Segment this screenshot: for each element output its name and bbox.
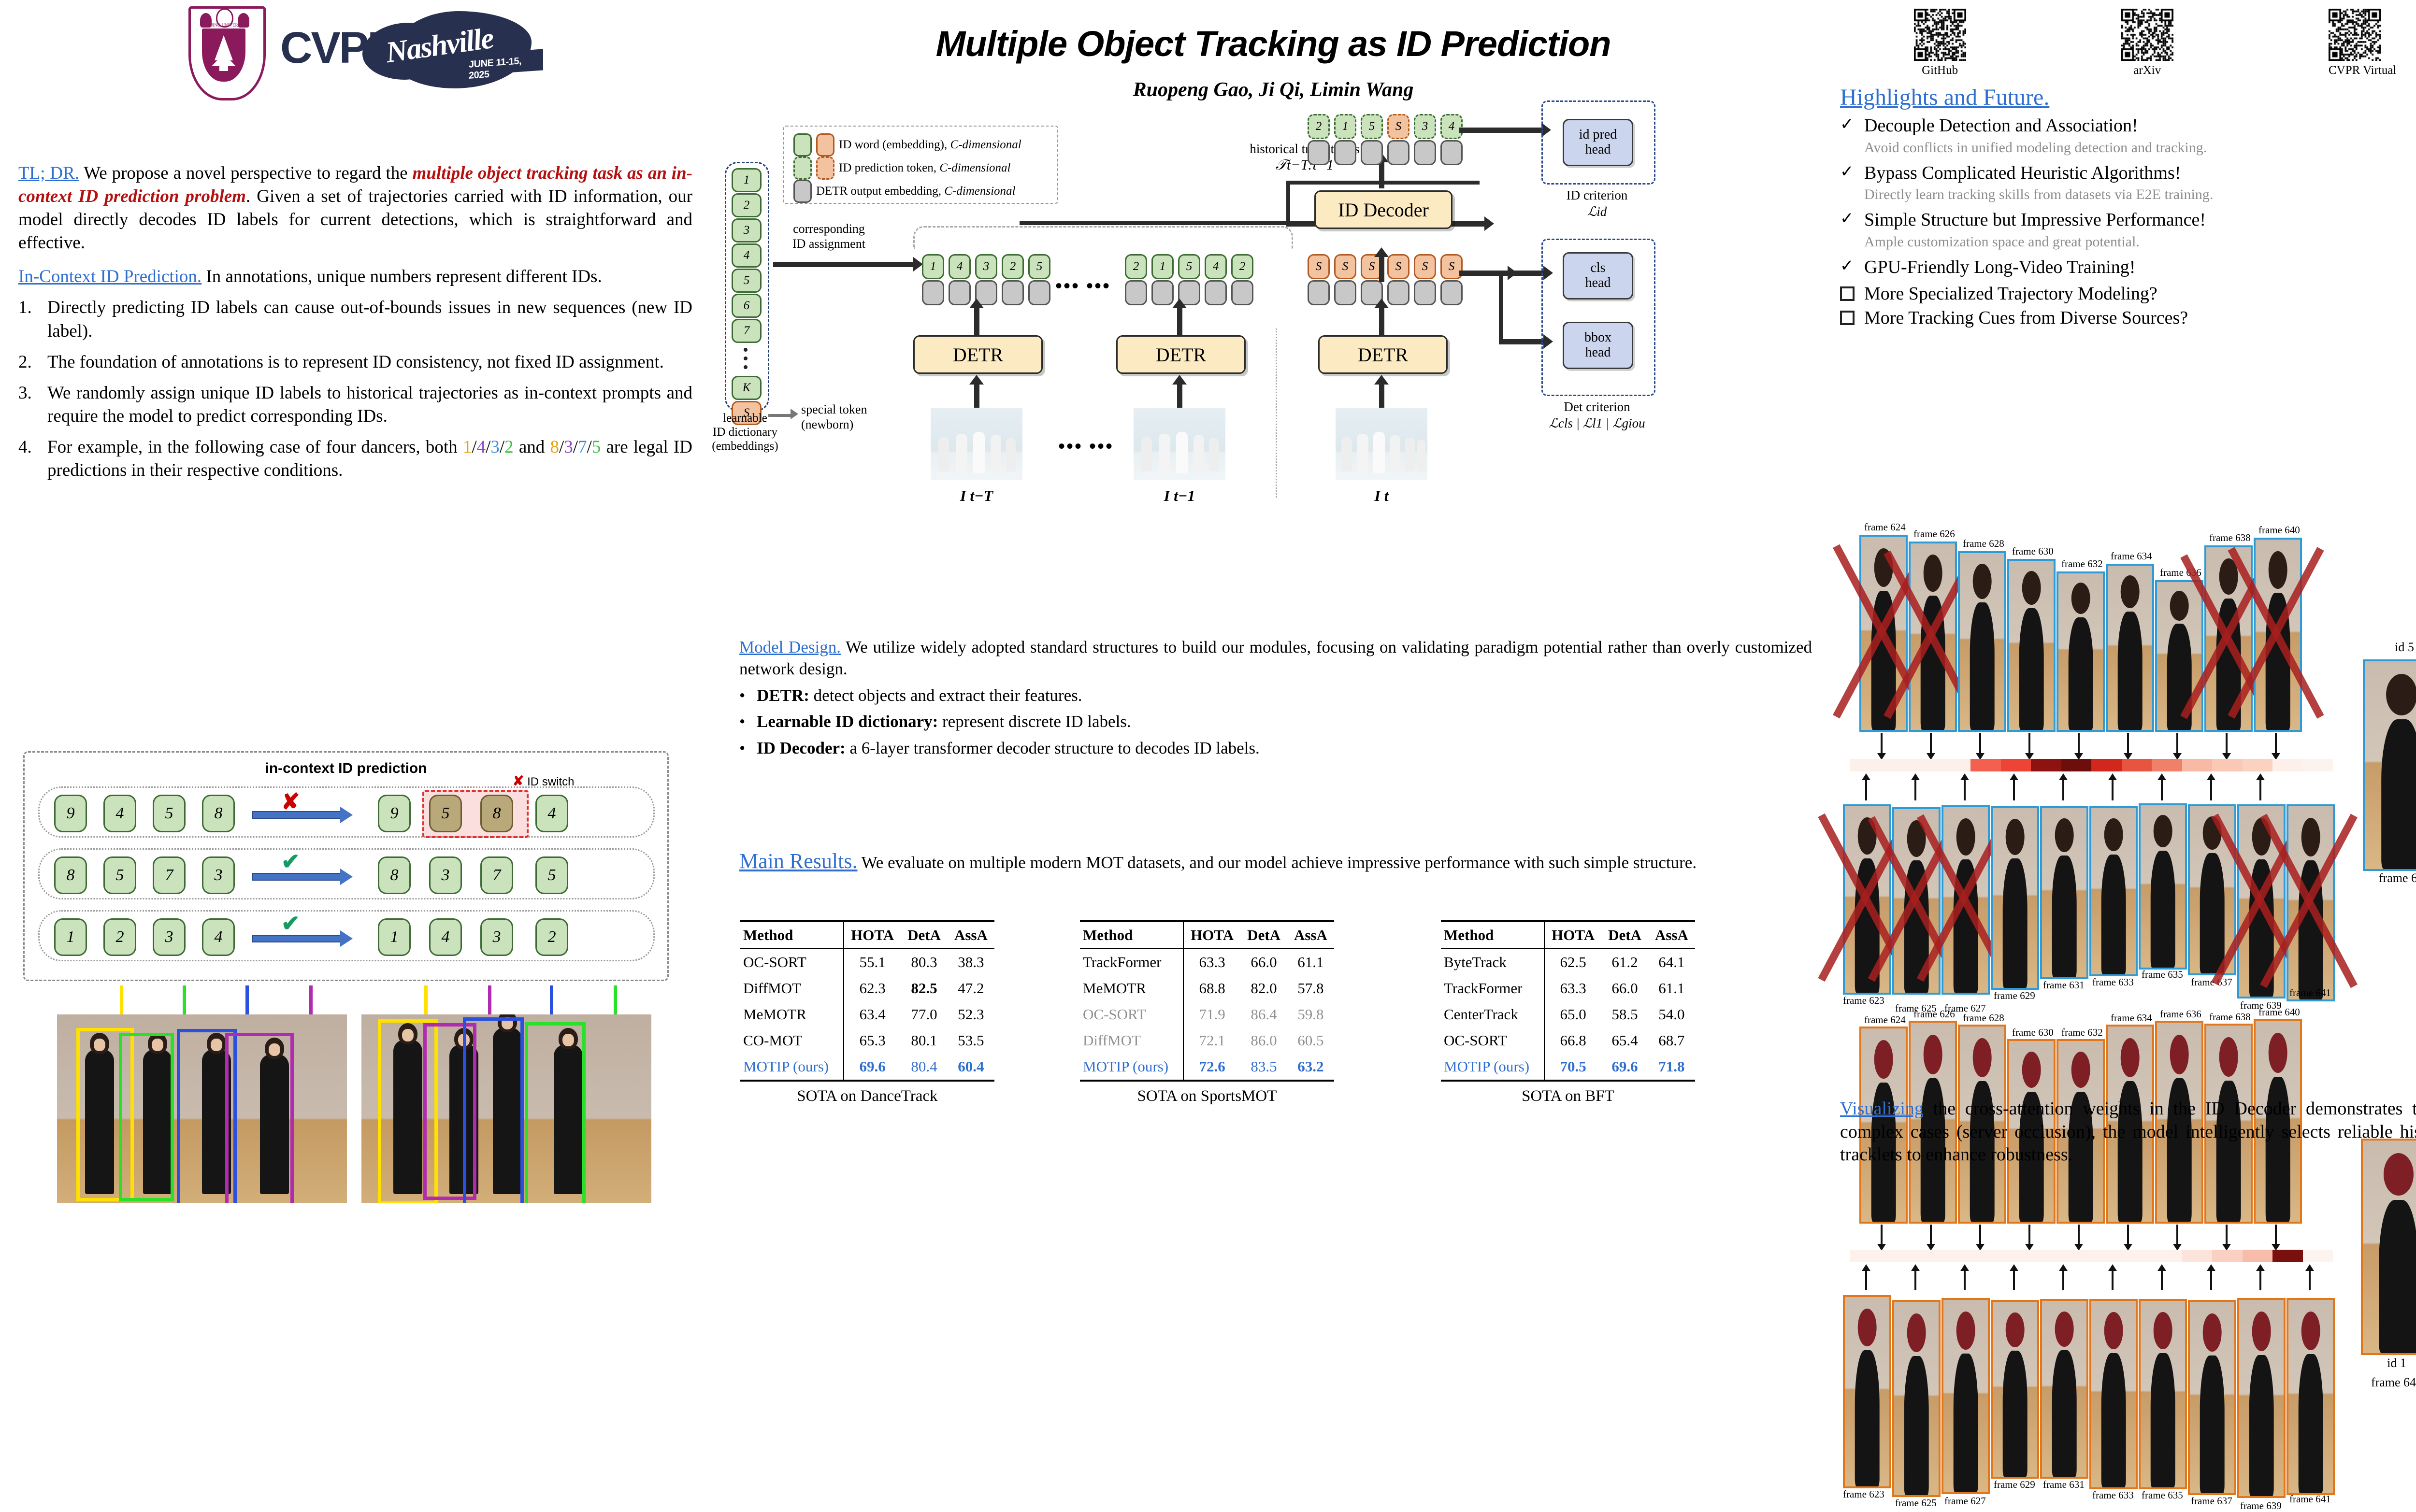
viz-frame-label: frame 632 [2061, 1027, 2103, 1039]
cell-method: MeMOTR [740, 1001, 844, 1027]
bbox-green [525, 1022, 586, 1203]
legend-text: ID word (embedding), C-dimensional [839, 138, 1021, 152]
id-prediction-token: 3 [1414, 114, 1436, 139]
cell-hota: 65.3 [844, 1027, 901, 1054]
token-column: S [1387, 114, 1409, 165]
cell-assa: 53.5 [948, 1027, 994, 1054]
image-to-detr-arrow [974, 385, 979, 408]
icip-intro: In annotations, unique numbers represent… [201, 267, 602, 286]
frame-label-2: I t−1 [1134, 487, 1225, 505]
viz-frame-label: frame 626 [1913, 1008, 1955, 1020]
ellipsis-images-1: ••• ••• [1058, 435, 1114, 457]
detr-output-token [1440, 280, 1463, 305]
attention-arrow-down [2275, 733, 2277, 753]
id-token: 1 [922, 254, 944, 279]
id-pred-head: id predhead [1563, 119, 1633, 166]
token-column: 3 [975, 254, 997, 305]
model-design-bullets: • DETR: detect objects and extract their… [739, 685, 1812, 759]
ic-cell: 3 [429, 856, 462, 894]
special-token-l1: special token [801, 402, 867, 417]
cell-deta: 86.4 [1240, 1001, 1287, 1027]
occlusion-x-icon [2287, 804, 2331, 998]
check-icon: ✓ [1840, 162, 1856, 181]
detr-output-token [1440, 140, 1463, 165]
list-item: • Learnable ID dictionary: represent dis… [739, 711, 1812, 733]
check-icon: ✓ [1840, 209, 1856, 228]
bullet-text: DETR: detect objects and extract their f… [757, 685, 1082, 707]
list-item: More Tracking Cues from Diverse Sources? [1840, 307, 2416, 329]
viz-frame-label: frame 623 [1843, 1488, 1884, 1500]
occlusion-x-icon [1909, 542, 1953, 728]
visualizing-section: Visualizing the cross-attention weights … [1840, 1098, 2416, 1167]
prediction-token-group: 2 1 5 S 3 4 [1308, 114, 1463, 165]
viz-frame-label: frame 630 [2012, 545, 2054, 557]
list-item: ✓ Decouple Detection and Association! [1840, 115, 2416, 137]
ic-cell: 9 [378, 795, 411, 832]
det-criterion-l1: Det criterion [1532, 399, 1662, 415]
ic-cell-switched: 5 [429, 795, 462, 832]
token-column: 4 [1440, 114, 1463, 165]
idhead-l2: head [1579, 143, 1617, 157]
qr-item-arxiv[interactable]: arXiv [2121, 9, 2173, 77]
attention-arrow-down [1979, 733, 1981, 753]
table-row: MeMOTR68.882.057.8 [1080, 975, 1334, 1001]
cvpr-virtual-qr-code[interactable] [2329, 9, 2381, 61]
ic-cell: 2 [103, 918, 136, 956]
viz-frame-label: frame 633 [2092, 976, 2134, 988]
legend-dim: C-dimensional [950, 138, 1021, 151]
th-method: Method [740, 921, 844, 949]
viz-frame-label: frame 631 [2043, 1479, 2085, 1491]
cell-assa: 63.2 [1287, 1054, 1334, 1081]
viz-frame-label: frame 635 [2142, 1489, 2183, 1501]
clshead-l2: head [1585, 276, 1611, 291]
viz-crop [1843, 1295, 1891, 1488]
attention-arrow-up [1914, 1271, 1916, 1290]
token-group-frame-2: 2 1 5 4 2 [1125, 254, 1253, 305]
attention-arrow-up [2259, 1271, 2261, 1290]
special-token: S [1414, 254, 1436, 279]
token-column: 5 [1178, 254, 1200, 305]
dict-label-l3: (embeddings) [697, 440, 793, 454]
legend-label: ID word (embedding), [839, 138, 950, 151]
tracking-example-images: historical trajectories current objects [23, 1014, 666, 1227]
viz-crop [2106, 564, 2154, 732]
special-token: S [1387, 254, 1409, 279]
list-item: 1. Directly predicting ID labels can cau… [18, 296, 692, 342]
list-item: ✓ Simple Structure but Impressive Perfor… [1840, 209, 2416, 231]
icip-paragraph: In-Context ID Prediction. In annotations… [18, 265, 692, 288]
bboxhead-l1: bbox [1584, 330, 1611, 345]
visualizing-body: the cross-attention weights in the ID De… [1840, 1098, 2416, 1165]
seq-b-2: 7 [578, 437, 587, 457]
arxiv-qr-code[interactable] [2121, 9, 2173, 61]
viz-crop [2040, 806, 2088, 979]
main-results-body: We evaluate on multiple modern MOT datas… [857, 853, 1697, 872]
token-column: S [1334, 254, 1356, 305]
qr-item-cvpr-virtual[interactable]: CVPR Virtual [2329, 9, 2396, 77]
viz-frame-label: frame 640 [2258, 524, 2300, 536]
token-column: 4 [1205, 254, 1227, 305]
attention-arrow-up [2062, 1271, 2064, 1290]
table-header-row: Method HOTA DetA AssA [1441, 921, 1695, 949]
token-column: S [1387, 254, 1409, 305]
viz-frame-label: frame 626 [1913, 528, 1955, 540]
query-id-label-1: id 5 [2356, 640, 2416, 655]
bullet-icon: • [739, 711, 750, 733]
cell-method: CenterTrack [1441, 1001, 1544, 1027]
viz-crop [2139, 803, 2187, 970]
list-item: More Specialized Trajectory Modeling? [1840, 283, 2416, 305]
seq-a-3: 2 [504, 437, 514, 457]
dictionary-label: learnable ID dictionary (embeddings) [697, 412, 793, 453]
legend-swatch-green-dashed [793, 157, 812, 180]
token-column: 1 [1334, 114, 1356, 165]
occlusion-x-icon [1941, 805, 1986, 991]
list-number: 1. [18, 296, 40, 342]
list-item: • DETR: detect objects and extract their… [739, 685, 1812, 707]
table-row-greyed: OC-SORT71.986.459.8 [1080, 1001, 1334, 1027]
cell-hota: 63.3 [1544, 975, 1601, 1001]
viz-frame-label: frame 637 [2191, 976, 2232, 988]
detr-output-token [1125, 280, 1147, 305]
seq-a-1: 4 [477, 437, 486, 457]
cell-method: OC-SORT [740, 949, 844, 975]
attention-arrow-down [1881, 1225, 1883, 1244]
left-text-body: TL; DR. We propose a novel perspective t… [18, 162, 692, 490]
bullet-rest: represent discrete ID labels. [938, 712, 1131, 731]
special-token: S [1308, 254, 1330, 279]
middle-column: Multiple Object Tracking as ID Predictio… [710, 0, 1836, 1237]
highlight-title: Decouple Detection and Association! [1864, 115, 2138, 137]
icip-heading: In-Context ID Prediction. [18, 267, 201, 286]
id-token: 2 [1231, 254, 1253, 279]
attention-arrow-down [2028, 733, 2030, 753]
legend-swatch-grey [793, 180, 812, 203]
legend-swatch-orange-dashed [816, 157, 834, 180]
id-prediction-token-special: S [1387, 114, 1409, 139]
nanjing-university-logo: NANJING UNIVERSITY 1902 [188, 6, 261, 96]
query-id-label-2: id 1 [2348, 1356, 2416, 1370]
cell-deta: 80.3 [901, 949, 948, 975]
viz-crop [1892, 1300, 1941, 1497]
viz-crop [2155, 580, 2203, 732]
cell-assa: 52.3 [948, 1001, 994, 1027]
viz-frame-label: frame 638 [2209, 1011, 2251, 1023]
attention-arrow-down [2127, 1225, 2129, 1244]
viz-frame-label: frame 634 [2111, 550, 2152, 562]
ic-row-2: 8 5 7 3 ✔ 8 3 7 5 [38, 848, 655, 899]
poster-root: NANJING UNIVERSITY 1902 CVPR Nashville J… [0, 0, 2416, 1237]
nju-year: 1902 [202, 73, 245, 79]
cell-assa: 59.8 [1287, 1001, 1334, 1027]
token-group-frame-1: 1 4 3 2 5 [922, 254, 1050, 305]
attention-arrow-up [2309, 1271, 2311, 1290]
table-sportsmot: Method HOTA DetA AssA TrackFormer63.366.… [1080, 920, 1334, 1082]
cell-deta: 86.0 [1240, 1027, 1287, 1054]
bbox-head: bboxhead [1563, 322, 1633, 369]
routing-line-horizontal [1020, 221, 1290, 225]
attention-arrow-up [1865, 1271, 1867, 1290]
ic-cell: 3 [480, 918, 513, 956]
viz-frame-label: frame 629 [1994, 1479, 2035, 1491]
detr-output-token [1151, 280, 1174, 305]
list-item: 2. The foundation of annotations is to r… [18, 351, 692, 374]
special-token-l2: (newborn) [801, 417, 867, 432]
ic-cell: 8 [378, 856, 411, 894]
th-method: Method [1080, 921, 1183, 949]
cell-assa: 61.1 [1287, 949, 1334, 975]
id-prediction-token: 5 [1361, 114, 1383, 139]
id-token: 1 [1151, 254, 1174, 279]
input-frame-image-2 [1134, 408, 1225, 480]
tokens-to-decoder-arrow [1379, 257, 1384, 282]
attention-arrow-down [2176, 1225, 2178, 1244]
architecture-figure: 1 2 3 4 5 6 7 K S learnable ID dictionar… [720, 116, 1826, 618]
attention-arrow-up [2112, 780, 2114, 800]
ic-cell: 3 [202, 856, 235, 894]
cell-method: DiffMOT [1080, 1027, 1183, 1054]
viz-frame-label: frame 634 [2111, 1012, 2152, 1024]
visualizing-heading: Visualizing [1840, 1098, 1924, 1119]
table-dancetrack-wrapper: Method HOTA DetA AssA OC-SORT55.180.338.… [740, 920, 994, 1105]
ic-cell: 1 [54, 918, 87, 956]
cell-method: ByteTrack [1441, 949, 1544, 975]
list-text: Directly predicting ID labels can cause … [47, 296, 692, 342]
cell-deta: 80.1 [901, 1027, 948, 1054]
attention-arrow-up [2013, 1271, 2015, 1290]
historical-trajectories-image: historical trajectories [57, 1014, 347, 1203]
cell-hota: 66.8 [1544, 1027, 1601, 1054]
table-row: ByteTrack62.561.264.1 [1441, 949, 1695, 975]
viz-crop [2139, 1299, 2187, 1489]
viz-crop [2007, 559, 2056, 732]
github-qr-code[interactable] [1914, 9, 1966, 61]
image-to-detr-arrow [1177, 385, 1182, 408]
table-row: CenterTrack65.058.554.0 [1441, 1001, 1695, 1027]
detr-to-token-arrow [1379, 308, 1384, 335]
dict-cell: 4 [732, 243, 762, 268]
table-row-ours: MOTIP (ours)70.569.671.8 [1441, 1054, 1695, 1081]
checkbox-icon [1840, 283, 1856, 305]
list-text: The foundation of annotations is to repr… [47, 351, 692, 374]
attention-arrow-down [2226, 1225, 2228, 1244]
bullet-bold: Learnable ID dictionary: [757, 712, 938, 731]
cell-assa: 54.0 [1648, 1001, 1695, 1027]
viz-frame-label: frame 638 [2209, 532, 2251, 544]
bullet-icon: • [739, 685, 750, 707]
id-token: 3 [975, 254, 997, 279]
cell-deta: 77.0 [901, 1001, 948, 1027]
highlight-subtext: Ample customization space and great pote… [1864, 233, 2416, 251]
token-column: S [1414, 254, 1436, 305]
learnable-id-dictionary: 1 2 3 4 5 6 7 K S [725, 162, 769, 411]
cell-deta: 69.6 [1601, 1054, 1648, 1081]
attention-arrow-up [2013, 780, 2015, 800]
input-frame-image-3 [1336, 408, 1427, 480]
table-row: OC-SORT66.865.468.7 [1441, 1027, 1695, 1054]
token-column: 1 [922, 254, 944, 305]
detr-block-2: DETR [1116, 335, 1246, 374]
seq-b-0: 8 [550, 437, 559, 457]
viz-frame-label: frame 636 [2160, 1008, 2201, 1020]
section-divider [1276, 328, 1277, 498]
legend-label: DETR output embedding, [816, 185, 944, 198]
viz-crop [2089, 806, 2138, 976]
table-header-row: Method HOTA DetA AssA [740, 921, 994, 949]
ic-cell: 8 [54, 856, 87, 894]
ic-row-1: 9 4 5 8 ✘ 9 5 8 4 [38, 786, 655, 838]
bullet-icon: • [739, 738, 750, 759]
table-caption-bft: SOTA on BFT [1441, 1087, 1695, 1105]
list-item: • ID Decoder: a 6-layer transformer deco… [739, 738, 1812, 759]
model-design-section: Model Design. We utilize widely adopted … [739, 637, 1812, 764]
id-criterion-l1: ID criterion [1537, 187, 1657, 204]
table-row-ours: MOTIP (ours)72.683.563.2 [1080, 1054, 1334, 1081]
cell-deta: 61.2 [1601, 949, 1648, 975]
token-column: 5 [1028, 254, 1050, 305]
frame-label-3: I t [1336, 487, 1427, 505]
viz-crop [2237, 1298, 2286, 1498]
highlight-title: Simple Structure but Impressive Performa… [1864, 209, 2206, 231]
legend-row-id-word: ID word (embedding), C-dimensional [793, 133, 1021, 157]
cell-hota: 70.5 [1544, 1054, 1601, 1081]
token-column: 2 [1231, 254, 1253, 305]
seq-a-2: 3 [490, 437, 500, 457]
ic-cell: 3 [153, 918, 186, 956]
in-context-id-prediction-diagram: in-context ID prediction ✘ ID switch 9 4… [23, 751, 669, 981]
attention-arrow-down [2226, 733, 2228, 753]
main-results-heading: Main Results. [739, 849, 857, 873]
bullet-rest: a 6-layer transformer decoder structure … [846, 739, 1260, 757]
th-assa: AssA [1648, 921, 1695, 949]
frame-label-1: I t−T [931, 487, 1022, 505]
to-cls-head-arrow [1499, 271, 1543, 276]
ic-row-3: 1 2 3 4 ✔ 1 4 3 2 [38, 910, 655, 961]
qr-label-github: GitHub [1914, 64, 1966, 77]
highlight-title: Bypass Complicated Heuristic Algorithms! [1864, 162, 2181, 185]
viz-crop [1941, 1298, 1990, 1494]
cell-method: TrackFormer [1441, 975, 1544, 1001]
cell-deta: 82.0 [1240, 975, 1287, 1001]
attention-arrow-up [1964, 1271, 1966, 1290]
cvpr-nashville-logo: CVPR Nashville JUNE 11-15, 2025 [280, 12, 536, 89]
tldr-part1: We propose a novel perspective to regard… [79, 163, 412, 183]
attention-arrow-down [2078, 1225, 2080, 1244]
ic-cell: 7 [480, 856, 513, 894]
cell-assa: 38.3 [948, 949, 994, 975]
highlights-list: ✓ Decouple Detection and Association! Av… [1840, 115, 2416, 330]
cell-assa: 68.7 [1648, 1027, 1695, 1054]
token-column: S [1440, 254, 1463, 305]
highlights-heading: Highlights and Future. [1840, 83, 2416, 112]
cell-deta: 66.0 [1240, 949, 1287, 975]
cell-method: TrackFormer [1080, 949, 1183, 975]
table-bft-wrapper: Method HOTA DetA AssA ByteTrack62.561.26… [1441, 920, 1695, 1105]
attention-heatmap-bar-1 [1850, 759, 2333, 771]
viz-crop [2040, 1299, 2088, 1479]
cell-method: OC-SORT [1080, 1001, 1183, 1027]
viz-frame-label: frame 627 [1944, 1495, 1986, 1507]
query-crop-1 [2363, 659, 2416, 871]
seq-b-1: 3 [564, 437, 573, 457]
detr-output-token [1308, 280, 1330, 305]
dict-cell: 6 [732, 294, 762, 318]
viz-frame-label: frame 624 [1864, 1014, 1906, 1026]
model-design-heading: Model Design. [739, 638, 841, 656]
dict-cell: 3 [732, 218, 762, 242]
attention-arrow-down [2275, 1225, 2277, 1244]
detr-output-token [1387, 280, 1409, 305]
corresp-l2: ID assignment [792, 236, 865, 251]
detr-output-token [1205, 280, 1227, 305]
ic-cell: 9 [54, 795, 87, 832]
list-text: We randomly assign unique ID labels to h… [47, 382, 692, 428]
tldr-paragraph: TL; DR. We propose a novel perspective t… [18, 162, 692, 255]
occlusion-x-icon [2254, 538, 2298, 728]
id-decoder-block: ID Decoder [1314, 190, 1452, 229]
id-criterion-label: ID criterion ℒid [1537, 187, 1657, 220]
qr-item-github[interactable]: GitHub [1914, 9, 1966, 77]
legend-dim: C-dimensional [944, 185, 1015, 198]
detr-output-token [949, 280, 971, 305]
qr-code-row: GitHub arXiv CVPR Virtual [1836, 9, 2416, 77]
query-crop-2 [2361, 1139, 2416, 1355]
attention-arrow-up [2112, 1271, 2114, 1290]
table-row: OC-SORT55.180.338.3 [740, 949, 994, 975]
detr-block-3: DETR [1318, 335, 1448, 374]
th-deta: DetA [1601, 921, 1648, 949]
detr-output-token [1334, 280, 1356, 305]
ic-cell: 5 [535, 856, 568, 894]
attention-arrow-down [2127, 733, 2129, 753]
detr-to-token-arrow [1177, 308, 1182, 335]
highlights-section: Highlights and Future. ✓ Decouple Detect… [1840, 83, 2416, 332]
cell-hota: 69.6 [844, 1054, 901, 1081]
table-row: CO-MOT65.380.153.5 [740, 1027, 994, 1054]
cell-hota: 65.0 [1544, 1001, 1601, 1027]
th-method: Method [1441, 921, 1544, 949]
dict-label-l2: ID dictionary [697, 426, 793, 440]
table-row: TrackFormer63.366.061.1 [1441, 975, 1695, 1001]
id-criterion-l2: ℒid [1537, 204, 1657, 220]
table-header-row: Method HOTA DetA AssA [1080, 921, 1334, 949]
cell-deta: 83.5 [1240, 1054, 1287, 1081]
cvpr-wordmark: CVPR [280, 26, 398, 70]
cell-deta: 66.0 [1601, 975, 1648, 1001]
pred-to-head-arrow [1459, 128, 1541, 133]
bbox-purple [225, 1033, 294, 1203]
bullet-text: Learnable ID dictionary: represent discr… [757, 711, 1131, 733]
attention-arrow-up [2210, 780, 2212, 800]
id-prediction-token: 4 [1440, 114, 1463, 139]
id-token: 5 [1028, 254, 1050, 279]
legend-swatch-orange [816, 133, 834, 157]
ic-cell: 4 [429, 918, 462, 956]
th-assa: AssA [1287, 921, 1334, 949]
th-assa: AssA [948, 921, 994, 949]
cell-assa: 47.2 [948, 975, 994, 1001]
viz-frame-label: frame 629 [1994, 990, 2035, 1002]
list-text-colored: For example, in the following case of fo… [47, 436, 692, 482]
special-token-label: special token (newborn) [801, 402, 867, 432]
legend-label: ID prediction token, [839, 161, 939, 174]
cell-assa: 60.4 [948, 1054, 994, 1081]
check-icon: ✔ [281, 913, 300, 935]
left-column: NANJING UNIVERSITY 1902 CVPR Nashville J… [0, 0, 710, 1237]
th-deta: DetA [1240, 921, 1287, 949]
token-column: 4 [949, 254, 971, 305]
